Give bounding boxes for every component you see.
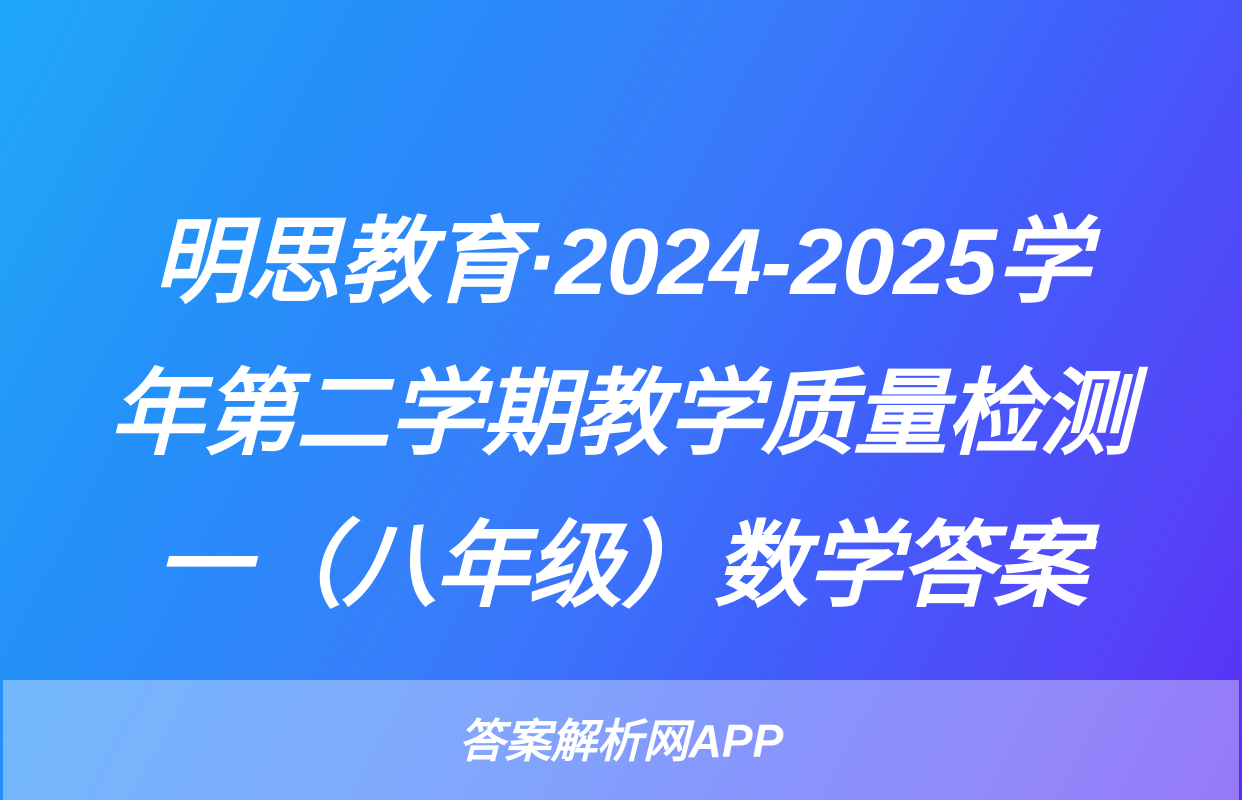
title-line-1: 明思教育·2024-2025学 [28,186,1214,338]
watermark-app-label: 答案解析网APP [459,718,784,764]
title-line-3: 一（八年级）数学答案 [28,490,1214,642]
poster-canvas: 明思教育·2024-2025学 年第二学期教学质量检测 一（八年级）数学答案 答… [0,0,1242,800]
title-line-2: 年第二学期教学质量检测 [28,338,1214,490]
watermark-band: 答案解析网APP [3,680,1239,800]
page-title: 明思教育·2024-2025学 年第二学期教学质量检测 一（八年级）数学答案 [0,186,1242,642]
